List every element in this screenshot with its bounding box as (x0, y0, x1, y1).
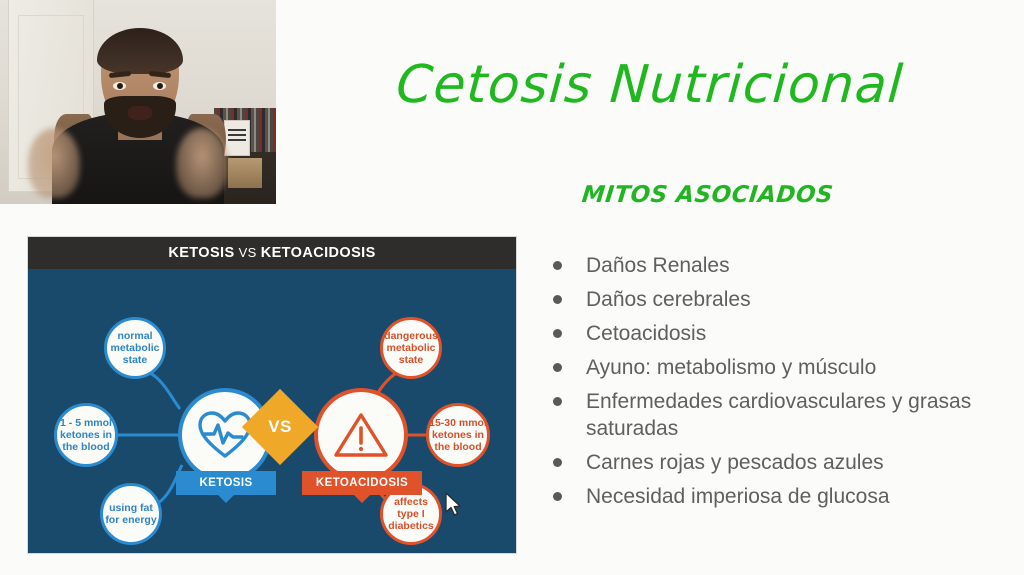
node-line-2: metabolic (386, 342, 435, 354)
bullet-dot-icon (553, 363, 562, 372)
ketoacidosis-tag: KETOACIDOSIS (302, 471, 422, 495)
infographic-title-vs: VS (239, 245, 257, 260)
list-item: Enfermedades cardiovasculares y grasas s… (553, 388, 1008, 442)
node-line-2: ketones in (60, 429, 112, 441)
bullet-dot-icon (553, 397, 562, 406)
list-item-label: Necesidad imperiosa de glucosa (586, 483, 890, 510)
node-line-3: diabetics (388, 520, 434, 532)
bullet-dot-icon (553, 329, 562, 338)
list-item: Cetoacidosis (553, 320, 1008, 347)
node-ketone-level-ketoacidosis[interactable]: 15-30 mmol ketones in the blood (426, 403, 490, 467)
webcam-person-hand-left (28, 128, 80, 198)
infographic-body: normal metabolic state 1 - 5 mmol ketone… (28, 269, 516, 554)
heart-pulse-icon (197, 410, 253, 460)
bullet-dot-icon (553, 295, 562, 304)
node-line-3: state (399, 354, 424, 366)
node-line-1: normal (117, 330, 152, 342)
node-line-1: using fat (109, 502, 153, 514)
infographic-title-right: KETOACIDOSIS (261, 245, 376, 261)
node-line-1: 15-30 mmol (429, 417, 487, 429)
infographic-header: KETOSIS VS KETOACIDOSIS (28, 237, 516, 269)
node-using-fat-for-energy[interactable]: using fat for energy (100, 483, 162, 545)
bullet-list: Daños Renales Daños cerebrales Cetoacido… (553, 252, 1008, 517)
list-item: Necesidad imperiosa de glucosa (553, 483, 1008, 510)
node-line-3: state (123, 354, 148, 366)
list-item: Daños Renales (553, 252, 1008, 279)
node-ketone-level-ketosis[interactable]: 1 - 5 mmol ketones in the blood (54, 403, 118, 467)
bullet-dot-icon (553, 458, 562, 467)
infographic-title-left: KETOSIS (168, 245, 234, 261)
mouse-pointer-icon (444, 492, 462, 518)
list-item-label: Enfermedades cardiovasculares y grasas s… (586, 388, 1008, 442)
list-item-label: Ayuno: metabolismo y músculo (586, 354, 876, 381)
vs-label: VS (253, 400, 307, 454)
ketoacidosis-main-circle[interactable] (314, 388, 408, 482)
node-line-2: metabolic (110, 342, 159, 354)
webcam-shelf-stand (228, 158, 262, 188)
list-item-label: Daños Renales (586, 252, 730, 279)
list-item: Daños cerebrales (553, 286, 1008, 313)
node-line-3: the blood (434, 441, 481, 453)
list-item: Carnes rojas y pescados azules (553, 449, 1008, 476)
infographic-title: KETOSIS VS KETOACIDOSIS (168, 245, 375, 261)
node-line-2: ketones in (432, 429, 484, 441)
bullet-dot-icon (553, 261, 562, 270)
presentation-slide: Cetosis Nutricional MITOS ASOCIADOS Daño… (0, 0, 1024, 575)
webcam-person-mouth (128, 106, 152, 120)
node-line-1: 1 - 5 mmol (60, 417, 112, 429)
webcam-person-hand-right (176, 128, 228, 198)
list-item: Ayuno: metabolismo y músculo (553, 354, 1008, 381)
presenter-webcam-video[interactable] (0, 0, 276, 204)
ketosis-tag: KETOSIS (176, 471, 276, 495)
node-line-3: the blood (62, 441, 109, 453)
bullet-dot-icon (553, 492, 562, 501)
node-line-2: for energy (105, 514, 156, 526)
webcam-white-book (224, 120, 250, 156)
webcam-person-eye-left (113, 82, 126, 90)
slide-subtitle: MITOS ASOCIADOS (581, 182, 835, 208)
list-item-label: Daños cerebrales (586, 286, 751, 313)
node-line-1: affects (394, 496, 428, 508)
node-normal-metabolic-state[interactable]: normal metabolic state (104, 317, 166, 379)
node-line-1: dangerous (384, 330, 438, 342)
slide-title: Cetosis Nutricional (393, 55, 868, 127)
warning-triangle-icon (333, 410, 389, 460)
node-line-2: type I (397, 508, 424, 520)
list-item-label: Carnes rojas y pescados azules (586, 449, 884, 476)
list-item-label: Cetoacidosis (586, 320, 706, 347)
webcam-person-eye-right (153, 82, 166, 90)
node-dangerous-metabolic-state[interactable]: dangerous metabolic state (380, 317, 442, 379)
